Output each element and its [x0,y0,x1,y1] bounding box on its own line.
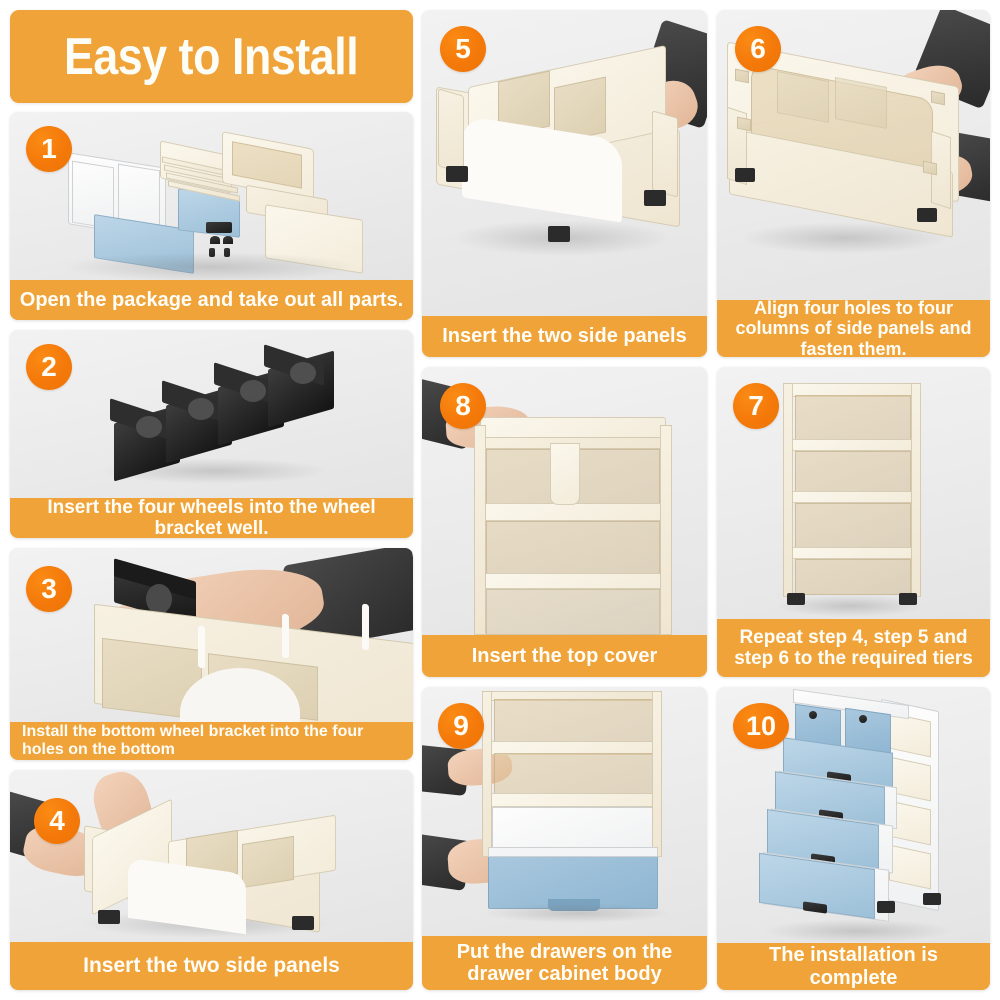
step-badge-4: 4 [34,798,80,844]
step-panel-2: 2 Insert the four wheels into the wheel … [10,330,413,538]
scene-hand-holding-wheel-bracket [10,548,413,722]
step-panel-10: 10 The installation is complete [717,687,990,990]
step-panel-7: 7 Repeat step 4, step 5 and step 6 to th… [717,367,990,677]
step-caption-9: Put the drawers on the drawer cabinet bo… [422,936,707,990]
step-badge-5: 5 [440,26,486,72]
step-badge-8: 8 [440,383,486,429]
step-panel-8: 8 Insert the top cover [422,367,707,677]
step-caption-1: Open the package and take out all parts. [10,280,413,320]
step-badge-10: 10 [733,703,789,749]
step-panel-3: 3 Install the bottom wheel bracket into … [10,548,413,760]
step-badge-7: 7 [733,383,779,429]
step-1-photo [10,112,413,280]
step-caption-8: Insert the top cover [422,635,707,677]
step-panel-6: 6 Align four holes to four columns of si… [717,10,990,357]
step-badge-9: 9 [438,703,484,749]
scene-parts-laid-out [10,112,413,280]
infographic-page: Easy to Install [0,0,1000,1000]
step-4-photo [10,770,413,942]
step-caption-6: Align four holes to four columns of side… [717,300,990,357]
step-panel-5: 5 Insert the two side panels [422,10,707,357]
step-badge-3: 3 [26,566,72,612]
step-panel-1: 1 Open the package and take out all part… [10,112,413,320]
title-banner: Easy to Install [10,10,413,103]
page-title: Easy to Install [64,27,358,87]
step-caption-4: Insert the two side panels [10,942,413,990]
step-badge-2: 2 [26,344,72,390]
step-caption-2: Insert the four wheels into the wheel br… [10,498,413,538]
step-2-photo [10,330,413,498]
step-caption-7: Repeat step 4, step 5 and step 6 to the … [717,619,990,677]
scene-four-black-wheel-brackets [10,330,413,498]
scene-hands-inserting-side-panels [10,770,413,942]
step-badge-1: 1 [26,126,72,172]
step-badge-6: 6 [735,26,781,72]
step-caption-3: Install the bottom wheel bracket into th… [10,722,413,760]
step-panel-4: 4 Insert the two side panels [10,770,413,990]
step-3-photo [10,548,413,722]
step-caption-5: Insert the two side panels [422,316,707,357]
step-panel-9: 9 Put the drawers on the drawer cabinet … [422,687,707,990]
step-caption-10: The installation is complete [717,943,990,990]
